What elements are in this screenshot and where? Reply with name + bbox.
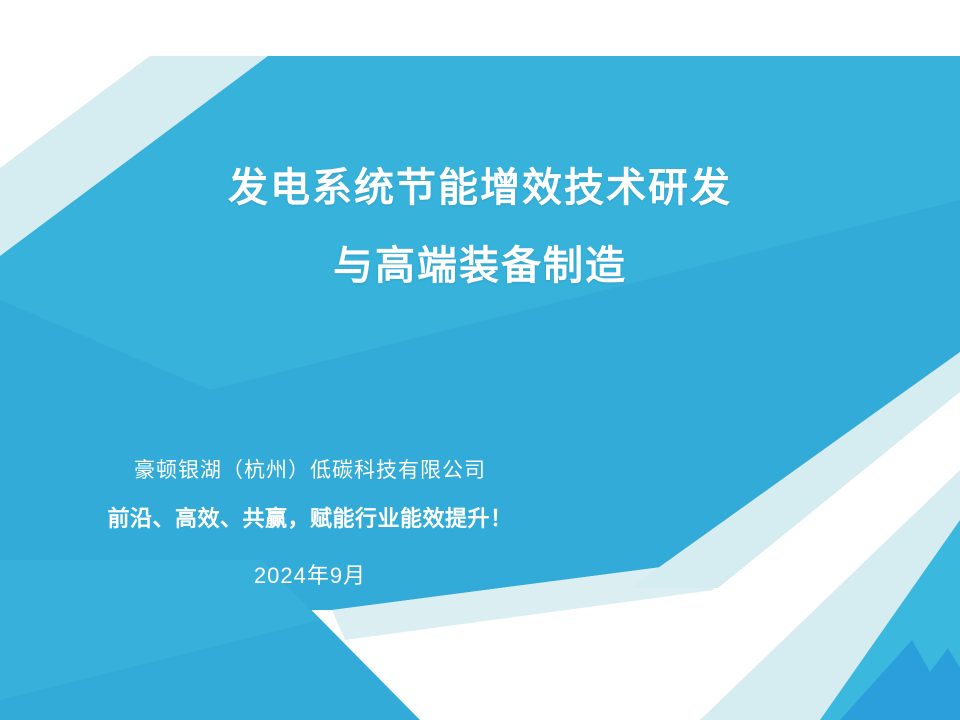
title-slide: 发电系统节能增效技术研发 与高端装备制造 豪顿银湖（杭州）低碳科技有限公司 前沿… <box>0 0 960 720</box>
background-artwork <box>0 0 960 720</box>
